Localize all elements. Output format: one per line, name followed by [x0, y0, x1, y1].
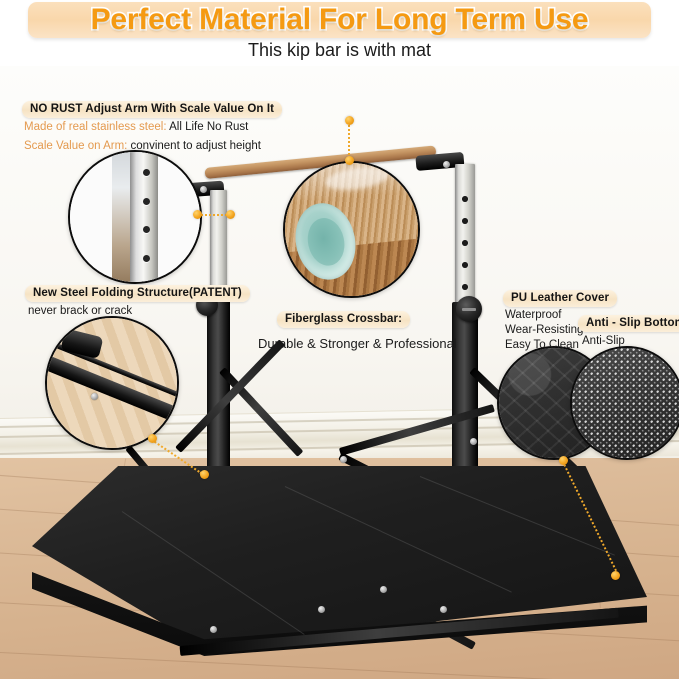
- leader-dot: [345, 156, 354, 165]
- adjust-hole: [462, 262, 468, 268]
- adjust-arm-detail-circle: [68, 150, 202, 284]
- callout-line-folding-structure: never brack or crack: [28, 305, 132, 317]
- adjust-hole: [462, 284, 468, 290]
- callout-label-folding-structure: New Steel Folding Structure(PATENT): [25, 285, 250, 302]
- mat-rivet: [380, 586, 387, 593]
- crossbar-bolt: [443, 161, 450, 168]
- leader-dot: [226, 210, 235, 219]
- product-photo: [0, 66, 679, 679]
- page-subtitle: This kip bar is with mat: [0, 40, 679, 61]
- anti-slip-detail-circle: [570, 346, 679, 460]
- adjust-hole: [462, 196, 468, 202]
- callout-label-pu-leather-cover: PU Leather Cover: [503, 290, 617, 307]
- leader-dot: [559, 456, 568, 465]
- page-title: Perfect Material For Long Term Use: [28, 1, 651, 39]
- frame-bolt: [470, 438, 477, 445]
- callout-label-fiberglass-crossbar: Fiberglass Crossbar:: [277, 311, 410, 328]
- callout-line-pu-2: Wear-Resisting: [505, 324, 583, 336]
- callout-accent-text: Scale Value on Arm:: [24, 140, 127, 152]
- leader-dot: [193, 210, 202, 219]
- crossbar-section-detail-circle: [283, 161, 420, 298]
- callout-accent-text: Made of real stainless steel:: [24, 121, 167, 133]
- adjust-hole: [462, 240, 468, 246]
- callout-label-no-rust: NO RUST Adjust Arm With Scale Value On I…: [22, 101, 282, 118]
- product-infographic: Perfect Material For Long Term Use This …: [0, 0, 679, 679]
- callout-rest-text: convinent to adjust height: [127, 140, 261, 152]
- callout-line-pu-3: Easy To Clean: [505, 339, 579, 351]
- mat-rivet: [210, 626, 217, 633]
- callout-rest-text: All Life No Rust: [167, 121, 249, 133]
- knob-slot: [462, 308, 476, 311]
- leader-dot: [200, 470, 209, 479]
- mat-rivet: [318, 606, 325, 613]
- mat-rivet: [440, 606, 447, 613]
- folding-joint-detail-circle: [45, 316, 179, 450]
- callout-line-fiberglass-crossbar: Durable & Stronger & Professional: [258, 336, 457, 351]
- leader-dot: [611, 571, 620, 580]
- floor-plank-line: [0, 650, 679, 679]
- frame-bolt: [340, 456, 347, 463]
- callout-line-no-rust-2: Scale Value on Arm: convinent to adjust …: [24, 140, 261, 152]
- adjust-hole: [462, 218, 468, 224]
- leader-dot: [148, 434, 157, 443]
- callout-line-anti-slip: Anti-Slip: [582, 335, 625, 347]
- crossbar-bolt: [200, 186, 207, 193]
- callout-line-no-rust-1: Made of real stainless steel: All Life N…: [24, 121, 248, 133]
- callout-label-anti-slip-bottom: Anti - Slip Bottom: [578, 315, 679, 332]
- leader-dot: [345, 116, 354, 125]
- callout-line-pu-1: Waterproof: [505, 309, 561, 321]
